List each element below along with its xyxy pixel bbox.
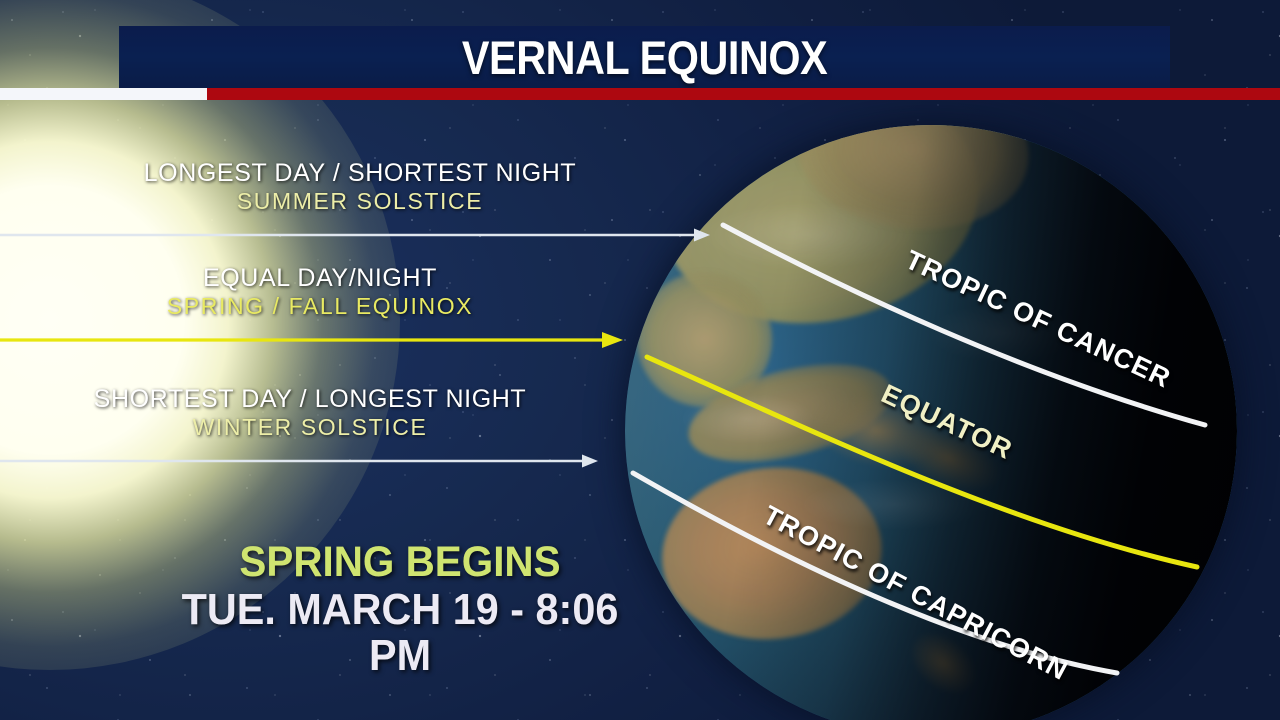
winter-solstice-title: WINTER SOLSTICE bbox=[0, 414, 620, 441]
spring-fall-equinox-title: SPRING / FALL EQUINOX bbox=[0, 293, 640, 320]
winter-solstice-arrow bbox=[0, 450, 600, 472]
banner-stripe-red bbox=[207, 88, 1280, 100]
title-banner: VERNAL EQUINOX bbox=[119, 26, 1170, 88]
summer-solstice-subtitle: LONGEST DAY / SHORTEST NIGHT bbox=[0, 159, 720, 188]
winter-solstice-subtitle: SHORTEST DAY / LONGEST NIGHT bbox=[0, 385, 620, 414]
headline-spring-begins: SPRING BEGINS bbox=[154, 540, 647, 585]
headline-datetime: TUE. MARCH 19 - 8:06 PM bbox=[154, 587, 647, 679]
summer-solstice-arrow bbox=[0, 224, 712, 246]
banner-stripe-white bbox=[0, 88, 207, 100]
headline-block: SPRING BEGINS TUE. MARCH 19 - 8:06 PM bbox=[138, 540, 662, 680]
page-title: VERNAL EQUINOX bbox=[462, 30, 827, 85]
spring-fall-equinox-arrow bbox=[0, 329, 625, 351]
weather-graphic-vernal-equinox: TROPIC OF CANCER EQUATOR TROPIC OF CAPRI… bbox=[0, 0, 1280, 720]
summer-solstice-title: SUMMER SOLSTICE bbox=[0, 188, 720, 215]
spring-fall-equinox-subtitle: EQUAL DAY/NIGHT bbox=[0, 264, 640, 293]
